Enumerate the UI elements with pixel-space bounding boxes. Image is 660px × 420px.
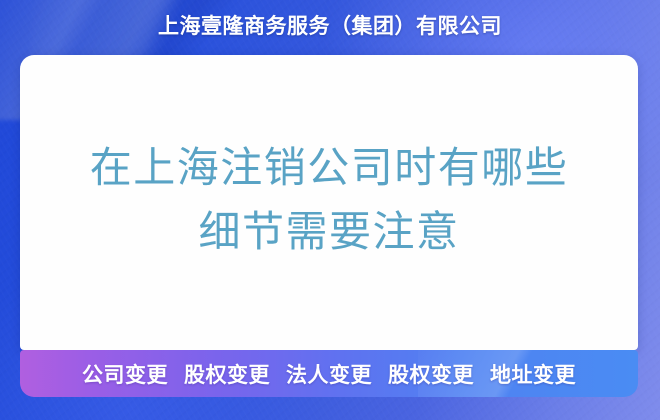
service-tag[interactable]: 法人变更 [286,359,372,389]
content-card: 在上海注销公司时有哪些 细节需要注意 [20,55,638,350]
service-tag[interactable]: 公司变更 [82,359,168,389]
service-tag[interactable]: 地址变更 [490,359,576,389]
service-tag[interactable]: 股权变更 [184,359,270,389]
article-title-line-1: 在上海注销公司时有哪些 [20,136,638,200]
company-name-header: 上海壹隆商务服务（集团）有限公司 [0,14,660,39]
service-tag[interactable]: 股权变更 [388,359,474,389]
article-title-line-2: 细节需要注意 [20,200,638,264]
service-tag-bar: 公司变更 股权变更 法人变更 股权变更 地址变更 [20,350,638,397]
service-tag-list: 公司变更 股权变更 法人变更 股权变更 地址变更 [82,359,576,389]
article-title: 在上海注销公司时有哪些 细节需要注意 [20,136,638,264]
promo-banner: 上海壹隆商务服务（集团）有限公司 在上海注销公司时有哪些 细节需要注意 公司变更… [0,0,660,420]
